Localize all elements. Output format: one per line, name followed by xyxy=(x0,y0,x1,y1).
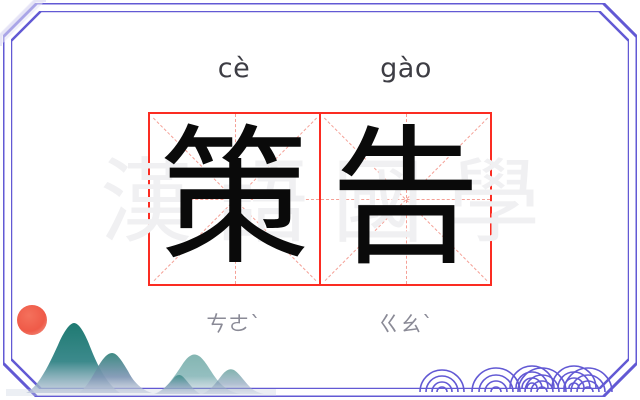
grid-cell-2[interactable]: 告 xyxy=(319,114,490,284)
character-grid: 策 告 xyxy=(148,112,492,286)
zhuyin-char-1: ㄘㄜˋ xyxy=(148,303,320,343)
hanzi-char-2: 告 xyxy=(321,114,490,284)
pinyin-row: cè gào xyxy=(148,45,492,91)
zhuyin-char-2: ㄍㄠˋ xyxy=(320,303,492,343)
pinyin-char-1: cè xyxy=(148,45,320,91)
frame-corner-tl xyxy=(0,0,46,46)
pinyin-char-2: gào xyxy=(320,45,492,91)
hanzi-char-1: 策 xyxy=(150,114,319,284)
grid-cell-1[interactable]: 策 xyxy=(150,114,319,284)
word-card: cè gào 漢 語 國 學 策 告 xyxy=(0,0,640,400)
grid-box: 策 告 xyxy=(148,112,492,286)
zhuyin-row: ㄘㄜˋ ㄍㄠˋ xyxy=(148,303,492,343)
sun-icon xyxy=(17,305,47,335)
